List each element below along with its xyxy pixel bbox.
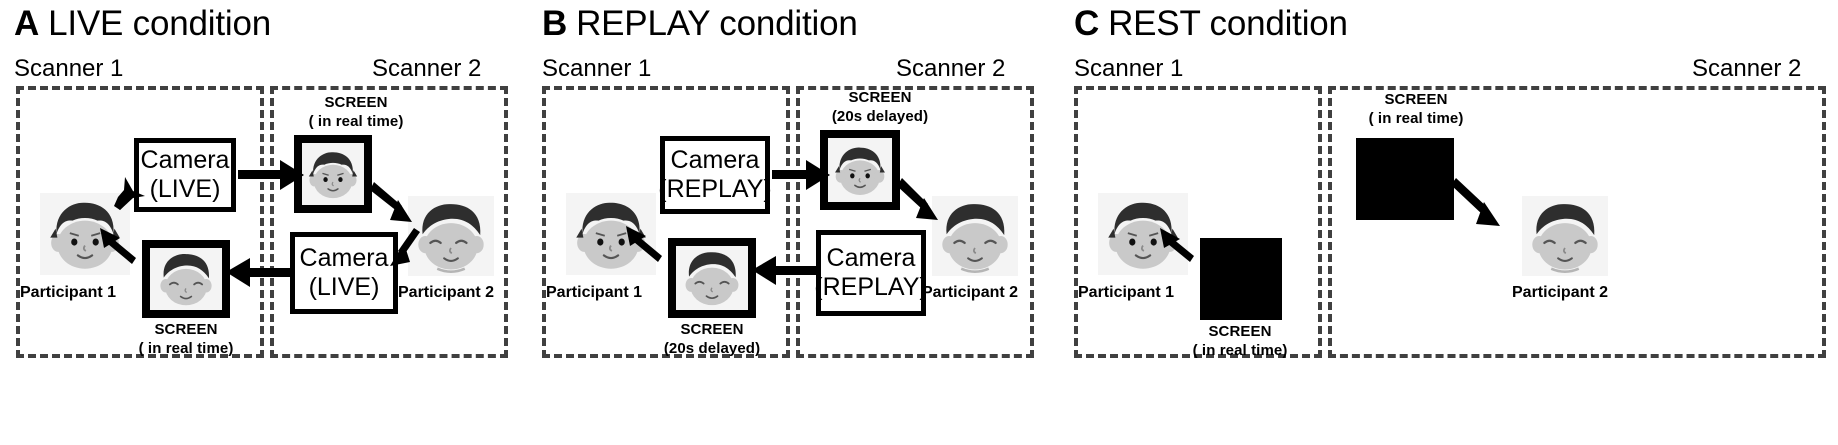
figure-root: ALIVE condition Scanner 1 Scanner 2 <box>0 0 1838 445</box>
panel-c-arrows <box>1060 0 1838 445</box>
panel-rest-condition: CREST condition Scanner 1 Scanner 2 <box>1060 0 1838 445</box>
panel-a-arrows <box>0 0 520 445</box>
panel-replay-condition: BREPLAY condition Scanner 1 Scanner 2 <box>528 0 1048 445</box>
panel-live-condition: ALIVE condition Scanner 1 Scanner 2 <box>0 0 520 445</box>
panel-b-arrows <box>528 0 1048 445</box>
